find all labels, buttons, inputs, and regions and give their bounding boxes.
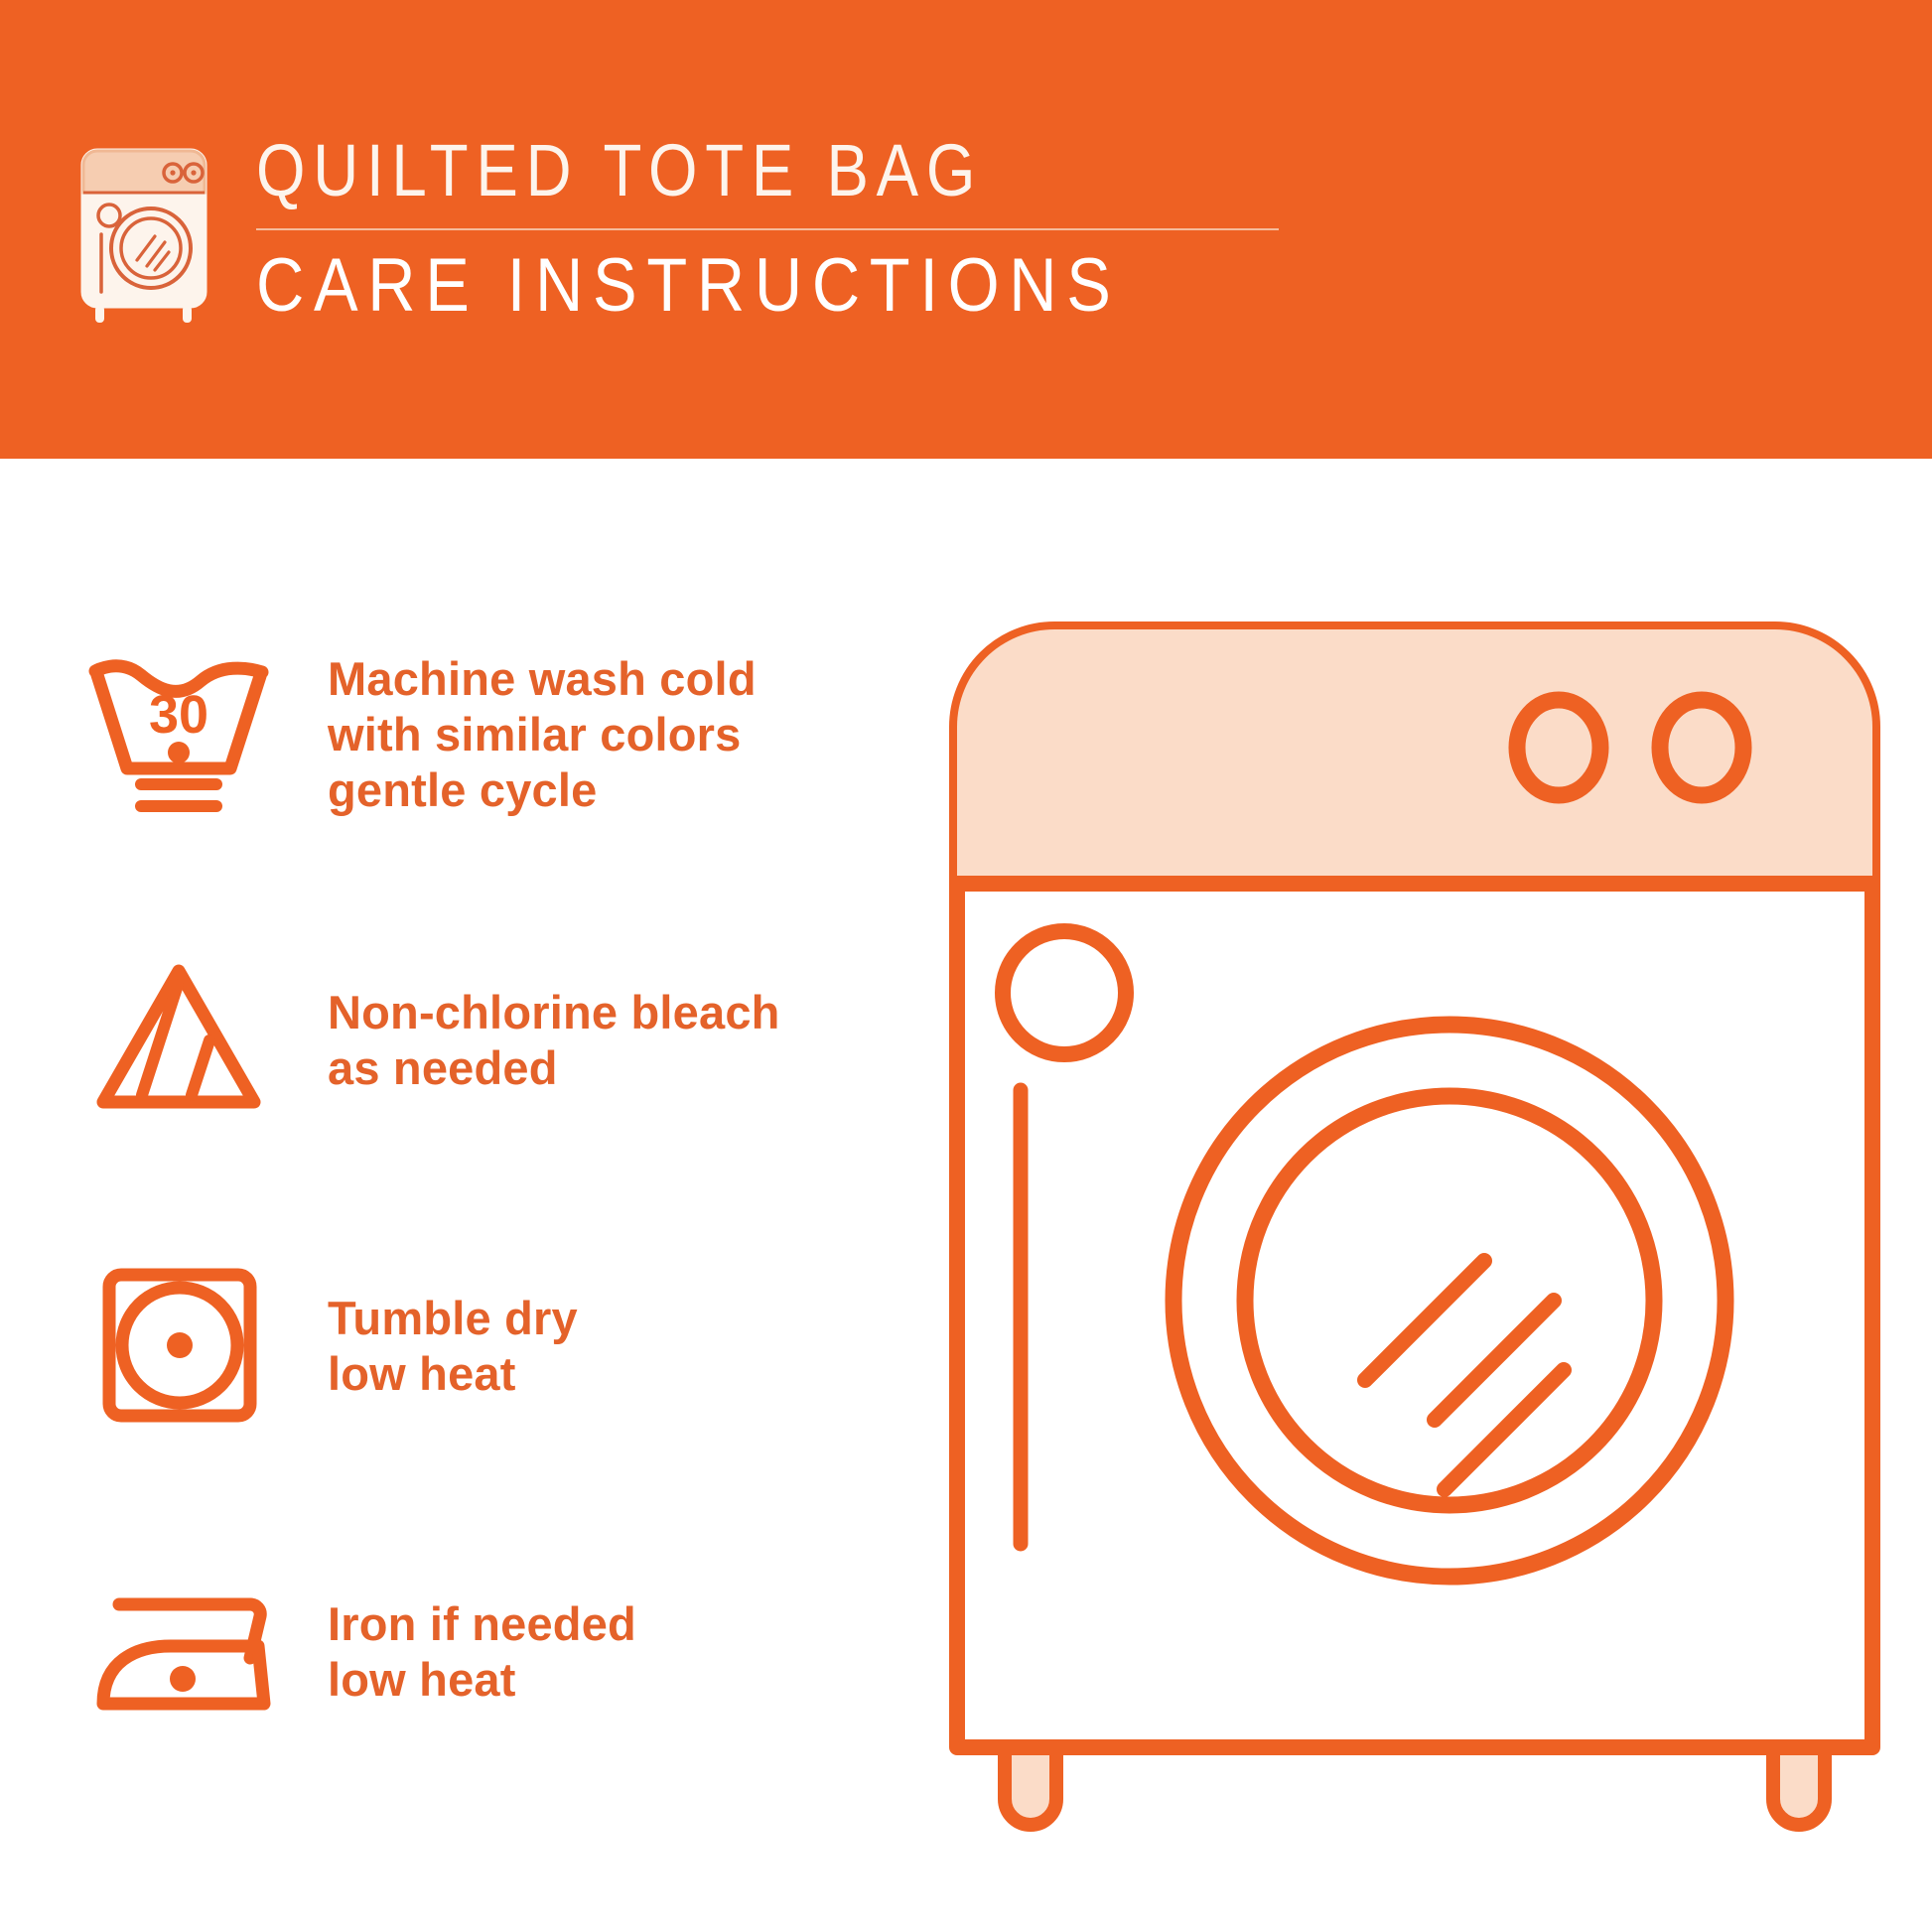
care-instruction-list: 30 Machine wash cold with similar colors… — [0, 635, 953, 1859]
non-chlorine-bleach-triangle-icon — [79, 951, 278, 1130]
header-banner: QUILTED TOTE BAG CARE INSTRUCTIONS — [0, 0, 1932, 459]
care-label-machine-wash: Machine wash cold with similar colors ge… — [328, 651, 757, 818]
care-row-tumble-dry: Tumble dry low heat — [0, 1247, 953, 1446]
care-label-tumble-dry: Tumble dry low heat — [328, 1291, 578, 1402]
title-divider — [256, 228, 1279, 230]
care-label-line: with similar colors — [328, 707, 757, 762]
care-label-line: low heat — [328, 1346, 578, 1402]
page-title: QUILTED TOTE BAG — [256, 133, 1136, 208]
header-content: QUILTED TOTE BAG CARE INSTRUCTIONS — [69, 129, 1279, 326]
care-row-bleach: Non-chlorine bleach as needed — [0, 941, 953, 1140]
care-label-line: gentle cycle — [328, 762, 757, 818]
wash-temperature-label: 30 — [149, 685, 208, 745]
care-label-line: as needed — [328, 1040, 780, 1096]
care-label-line: Iron if needed — [328, 1596, 636, 1652]
care-row-machine-wash: 30 Machine wash cold with similar colors… — [0, 635, 953, 834]
care-label-bleach: Non-chlorine bleach as needed — [328, 985, 780, 1096]
washing-machine-icon — [69, 137, 218, 326]
header-titles: QUILTED TOTE BAG CARE INSTRUCTIONS — [256, 129, 1279, 326]
iron-low-heat-icon — [79, 1563, 278, 1741]
tumble-dry-low-icon — [79, 1257, 278, 1436]
care-label-line: Tumble dry — [328, 1291, 578, 1346]
wash-tub-30-gentle-icon: 30 — [79, 645, 278, 824]
care-label-iron: Iron if needed low heat — [328, 1596, 636, 1708]
care-label-line: Machine wash cold — [328, 651, 757, 707]
care-instructions-page: QUILTED TOTE BAG CARE INSTRUCTIONS 30 — [0, 0, 1932, 1932]
care-row-iron: Iron if needed low heat — [0, 1553, 953, 1751]
care-label-line: Non-chlorine bleach — [328, 985, 780, 1040]
page-subtitle: CARE INSTRUCTIONS — [256, 246, 1156, 326]
care-label-line: low heat — [328, 1652, 636, 1708]
large-washing-machine-illustration — [943, 616, 1886, 1837]
